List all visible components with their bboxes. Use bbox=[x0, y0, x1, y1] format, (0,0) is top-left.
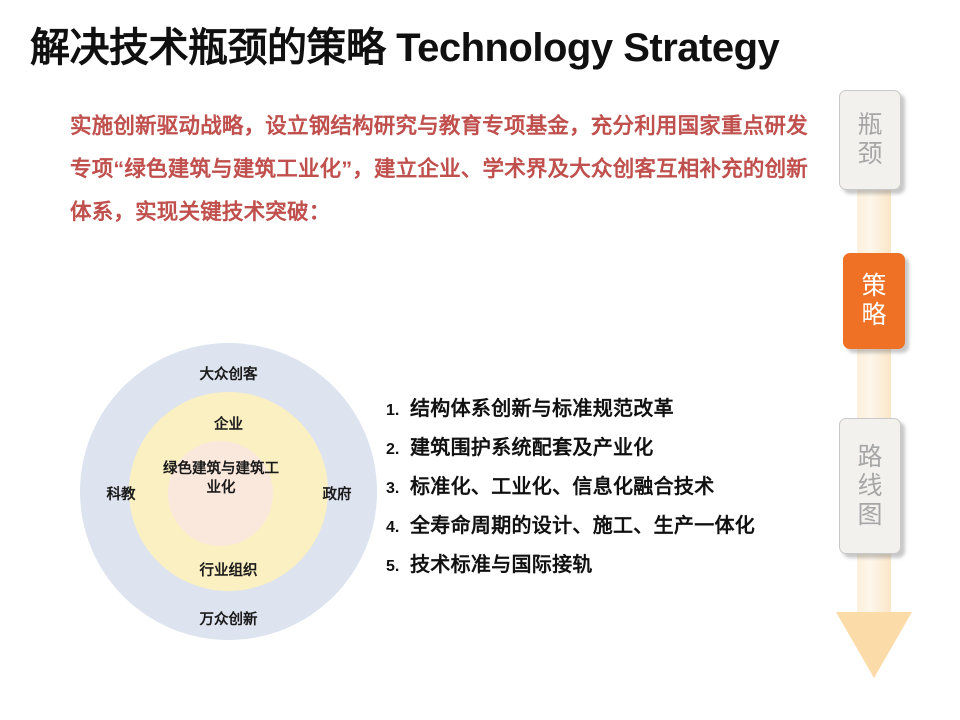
arrow-head-icon bbox=[836, 612, 912, 678]
nav-step-roadmap-char-2: 线 bbox=[857, 472, 882, 501]
nav-step-strategy-char-2: 略 bbox=[861, 301, 886, 330]
list-item: 5. 技术标准与国际接轨 bbox=[386, 548, 856, 587]
nav-step-roadmap-char-1: 路 bbox=[857, 443, 882, 472]
list-item-label: 标准化、工业化、信息化融合技术 bbox=[410, 470, 715, 499]
list-item: 4. 全寿命周期的设计、施工、生产一体化 bbox=[386, 509, 856, 548]
list-item-label: 结构体系创新与标准规范改革 bbox=[410, 392, 674, 421]
nav-step-bottleneck-char-2: 颈 bbox=[857, 140, 882, 169]
list-item-number: 1. bbox=[386, 402, 410, 420]
list-item-label: 技术标准与国际接轨 bbox=[410, 548, 593, 577]
ring-label-left: 科教 bbox=[86, 483, 156, 504]
ring-label-center: 绿色建筑与建筑工业化 bbox=[162, 460, 280, 498]
list-item: 2. 建筑围护系统配套及产业化 bbox=[386, 431, 856, 470]
list-item-number: 4. bbox=[386, 519, 410, 537]
innovation-ecosystem-diagram: 大众创客 企业 科教 政府 绿色建筑与建筑工业化 行业组织 万众创新 bbox=[80, 343, 377, 640]
ring-label-right: 政府 bbox=[302, 483, 372, 504]
list-item-label: 建筑围护系统配套及产业化 bbox=[410, 431, 654, 460]
list-item: 1. 结构体系创新与标准规范改革 bbox=[386, 392, 856, 431]
list-item-number: 5. bbox=[386, 558, 410, 576]
ring-label-outer-bottom: 万众创新 bbox=[80, 608, 377, 629]
list-item-number: 3. bbox=[386, 480, 410, 498]
ring-label-middle-bottom: 行业组织 bbox=[80, 559, 377, 580]
nav-step-strategy-char-1: 策 bbox=[861, 272, 886, 301]
section-progress-arrow: 瓶 颈 策 略 路 线 图 bbox=[828, 88, 924, 688]
list-item-label: 全寿命周期的设计、施工、生产一体化 bbox=[410, 509, 755, 538]
strategy-list: 1. 结构体系创新与标准规范改革 2. 建筑围护系统配套及产业化 3. 标准化、… bbox=[386, 392, 856, 587]
nav-step-roadmap[interactable]: 路 线 图 bbox=[839, 418, 901, 554]
list-item-number: 2. bbox=[386, 441, 410, 459]
nav-step-strategy[interactable]: 策 略 bbox=[843, 253, 905, 349]
ring-label-middle-top: 企业 bbox=[80, 413, 377, 434]
nav-step-roadmap-char-3: 图 bbox=[857, 501, 882, 530]
page-title: 解决技术瓶颈的策略 Technology Strategy bbox=[30, 26, 890, 70]
nav-step-bottleneck-char-1: 瓶 bbox=[857, 111, 882, 140]
intro-paragraph: 实施创新驱动战略，设立钢结构研究与教育专项基金，充分利用国家重点研发专项“绿色建… bbox=[70, 105, 810, 234]
nav-step-bottleneck[interactable]: 瓶 颈 bbox=[839, 90, 901, 190]
ring-label-outer-top: 大众创客 bbox=[80, 363, 377, 384]
list-item: 3. 标准化、工业化、信息化融合技术 bbox=[386, 470, 856, 509]
